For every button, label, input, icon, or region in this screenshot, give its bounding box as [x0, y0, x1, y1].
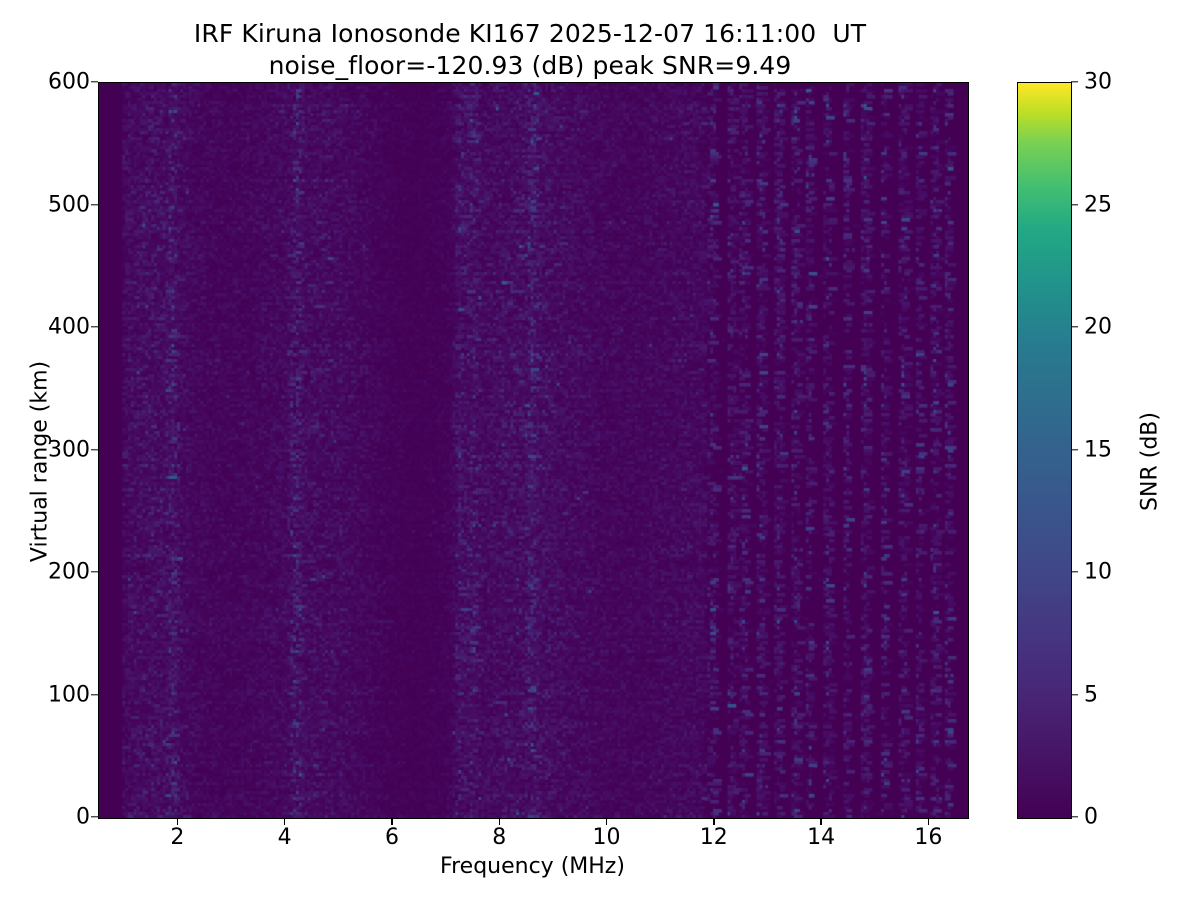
y-tick-mark — [91, 816, 98, 817]
x-tick-label: 4 — [278, 825, 292, 850]
colorbar — [1017, 82, 1072, 819]
y-tick-label: 300 — [48, 437, 90, 462]
heatmap-canvas — [99, 83, 968, 818]
x-tick-mark — [928, 818, 929, 825]
colorbar-tick-label: 10 — [1084, 560, 1112, 585]
colorbar-tick-mark — [1071, 204, 1078, 205]
title-line-2: noise_floor=-120.93 (dB) peak SNR=9.49 — [0, 50, 1060, 82]
colorbar-tick-label: 15 — [1084, 437, 1112, 462]
y-tick-label: 600 — [48, 70, 90, 95]
y-tick-mark — [91, 326, 98, 327]
colorbar-tick-label: 5 — [1084, 682, 1098, 707]
colorbar-label: SNR (dB) — [1138, 352, 1163, 572]
x-tick-label: 16 — [914, 825, 942, 850]
x-tick-mark — [820, 818, 821, 825]
ionogram-heatmap — [98, 82, 969, 819]
y-tick-label: 0 — [76, 805, 90, 830]
x-axis-label: Frequency (MHz) — [98, 854, 967, 879]
title-line-1: IRF Kiruna Ionosonde KI167 2025-12-07 16… — [0, 18, 1060, 50]
x-tick-mark — [284, 818, 285, 825]
colorbar-tick-mark — [1071, 571, 1078, 572]
x-tick-mark — [177, 818, 178, 825]
chart-title: IRF Kiruna Ionosonde KI167 2025-12-07 16… — [0, 18, 1060, 82]
colorbar-tick-label: 30 — [1084, 70, 1112, 95]
colorbar-tick-mark — [1071, 449, 1078, 450]
x-tick-mark — [391, 818, 392, 825]
y-tick-label: 400 — [48, 315, 90, 340]
colorbar-tick-label: 25 — [1084, 192, 1112, 217]
colorbar-gradient — [1018, 83, 1071, 818]
x-tick-label: 14 — [807, 825, 835, 850]
colorbar-tick-mark — [1071, 326, 1078, 327]
x-tick-mark — [713, 818, 714, 825]
colorbar-tick-mark — [1071, 81, 1078, 82]
colorbar-tick-label: 20 — [1084, 315, 1112, 340]
x-tick-mark — [499, 818, 500, 825]
x-tick-label: 2 — [170, 825, 184, 850]
colorbar-tick-mark — [1071, 816, 1078, 817]
x-tick-label: 8 — [492, 825, 506, 850]
y-tick-mark — [91, 694, 98, 695]
x-tick-label: 6 — [385, 825, 399, 850]
y-tick-mark — [91, 81, 98, 82]
y-tick-mark — [91, 449, 98, 450]
colorbar-tick-label: 0 — [1084, 805, 1098, 830]
x-tick-label: 10 — [593, 825, 621, 850]
y-tick-label: 100 — [48, 682, 90, 707]
y-tick-label: 500 — [48, 192, 90, 217]
y-tick-mark — [91, 204, 98, 205]
colorbar-tick-mark — [1071, 694, 1078, 695]
y-tick-label: 200 — [48, 560, 90, 585]
x-tick-label: 12 — [700, 825, 728, 850]
x-tick-mark — [606, 818, 607, 825]
y-tick-mark — [91, 571, 98, 572]
